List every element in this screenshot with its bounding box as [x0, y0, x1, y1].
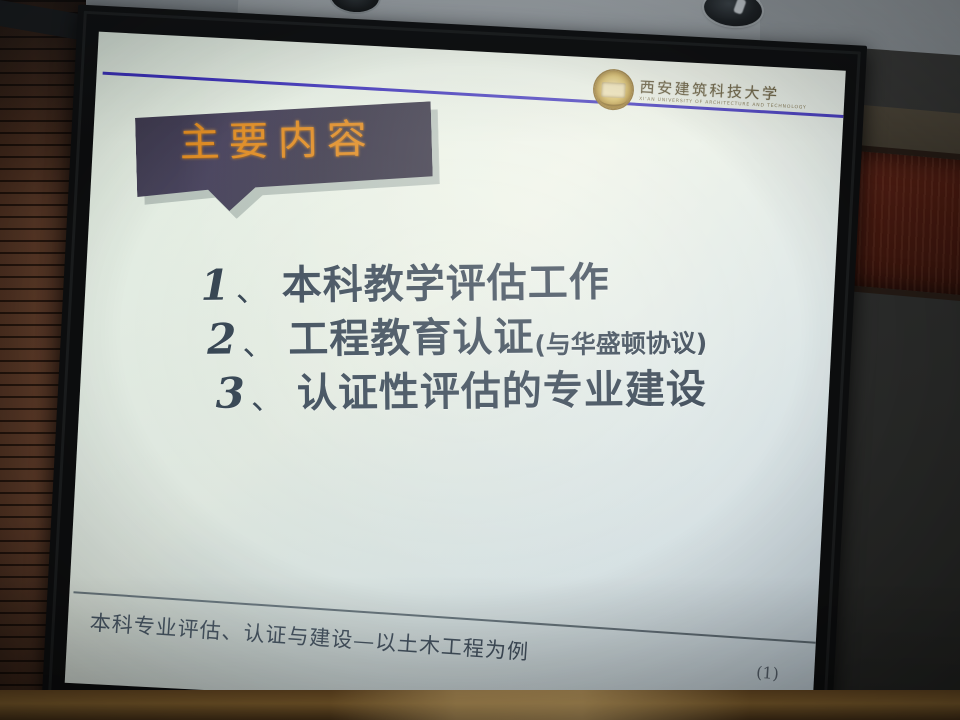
list-item-separator: 、 — [242, 328, 274, 360]
list-item-separator: 、 — [251, 382, 283, 414]
footer-title: 本科专业评估、认证与建设—以土木工程为例 — [89, 607, 530, 667]
list-item-label: 工程教育认证 — [288, 317, 534, 360]
slide-title-banner: 主要内容 — [135, 101, 434, 221]
wood-trim-highlight — [330, 690, 750, 720]
university-seal-icon — [594, 70, 634, 110]
banner-drop-shadow — [142, 109, 441, 221]
footer-divider — [73, 591, 815, 644]
list-item: 3 、 认证性评估的专业建设 — [215, 366, 821, 414]
list-item-number: 2 — [207, 318, 237, 360]
lecture-hall-photo: 西安建筑科技大学 XI'AN UNIVERSITY OF ARCHITECTUR… — [0, 0, 960, 720]
list-item-note: (与华盛顿协议) — [534, 331, 707, 358]
list-item: 1 、 本科教学评估工作 — [200, 258, 820, 306]
list-item-separator: 、 — [236, 274, 268, 306]
university-name-cn: 西安建筑科技大学 — [639, 80, 807, 104]
projection-screen: 西安建筑科技大学 XI'AN UNIVERSITY OF ARCHITECTUR… — [41, 0, 878, 720]
list-item-label: 本科教学评估工作 — [282, 263, 610, 306]
university-logo-text: 西安建筑科技大学 XI'AN UNIVERSITY OF ARCHITECTUR… — [639, 80, 808, 111]
university-name-en: XI'AN UNIVERSITY OF ARCHITECTURE AND TEC… — [639, 98, 807, 111]
list-item-number: 3 — [215, 372, 245, 414]
list-item: 2 、 工程教育认证 (与华盛顿协议) — [207, 312, 821, 360]
presentation-slide: 西安建筑科技大学 XI'AN UNIVERSITY OF ARCHITECTUR… — [65, 32, 846, 720]
slide-top-rule — [103, 72, 844, 118]
screen-frame: 西安建筑科技大学 XI'AN UNIVERSITY OF ARCHITECTUR… — [42, 4, 868, 720]
list-item-label: 认证性评估的专业建设 — [297, 370, 707, 414]
projection-sheen — [65, 32, 846, 720]
banner-shape — [135, 101, 434, 213]
page-title: 主要内容 — [179, 118, 430, 163]
bottom-wood-trim — [0, 690, 960, 720]
slide-page-number: (1) — [756, 663, 780, 683]
university-logo: 西安建筑科技大学 XI'AN UNIVERSITY OF ARCHITECTUR… — [593, 65, 787, 123]
list-item-number: 1 — [200, 265, 230, 307]
agenda-list: 1 、 本科教学评估工作 2 、 工程教育认证 (与华盛顿协议) 3 、 — [200, 258, 822, 426]
